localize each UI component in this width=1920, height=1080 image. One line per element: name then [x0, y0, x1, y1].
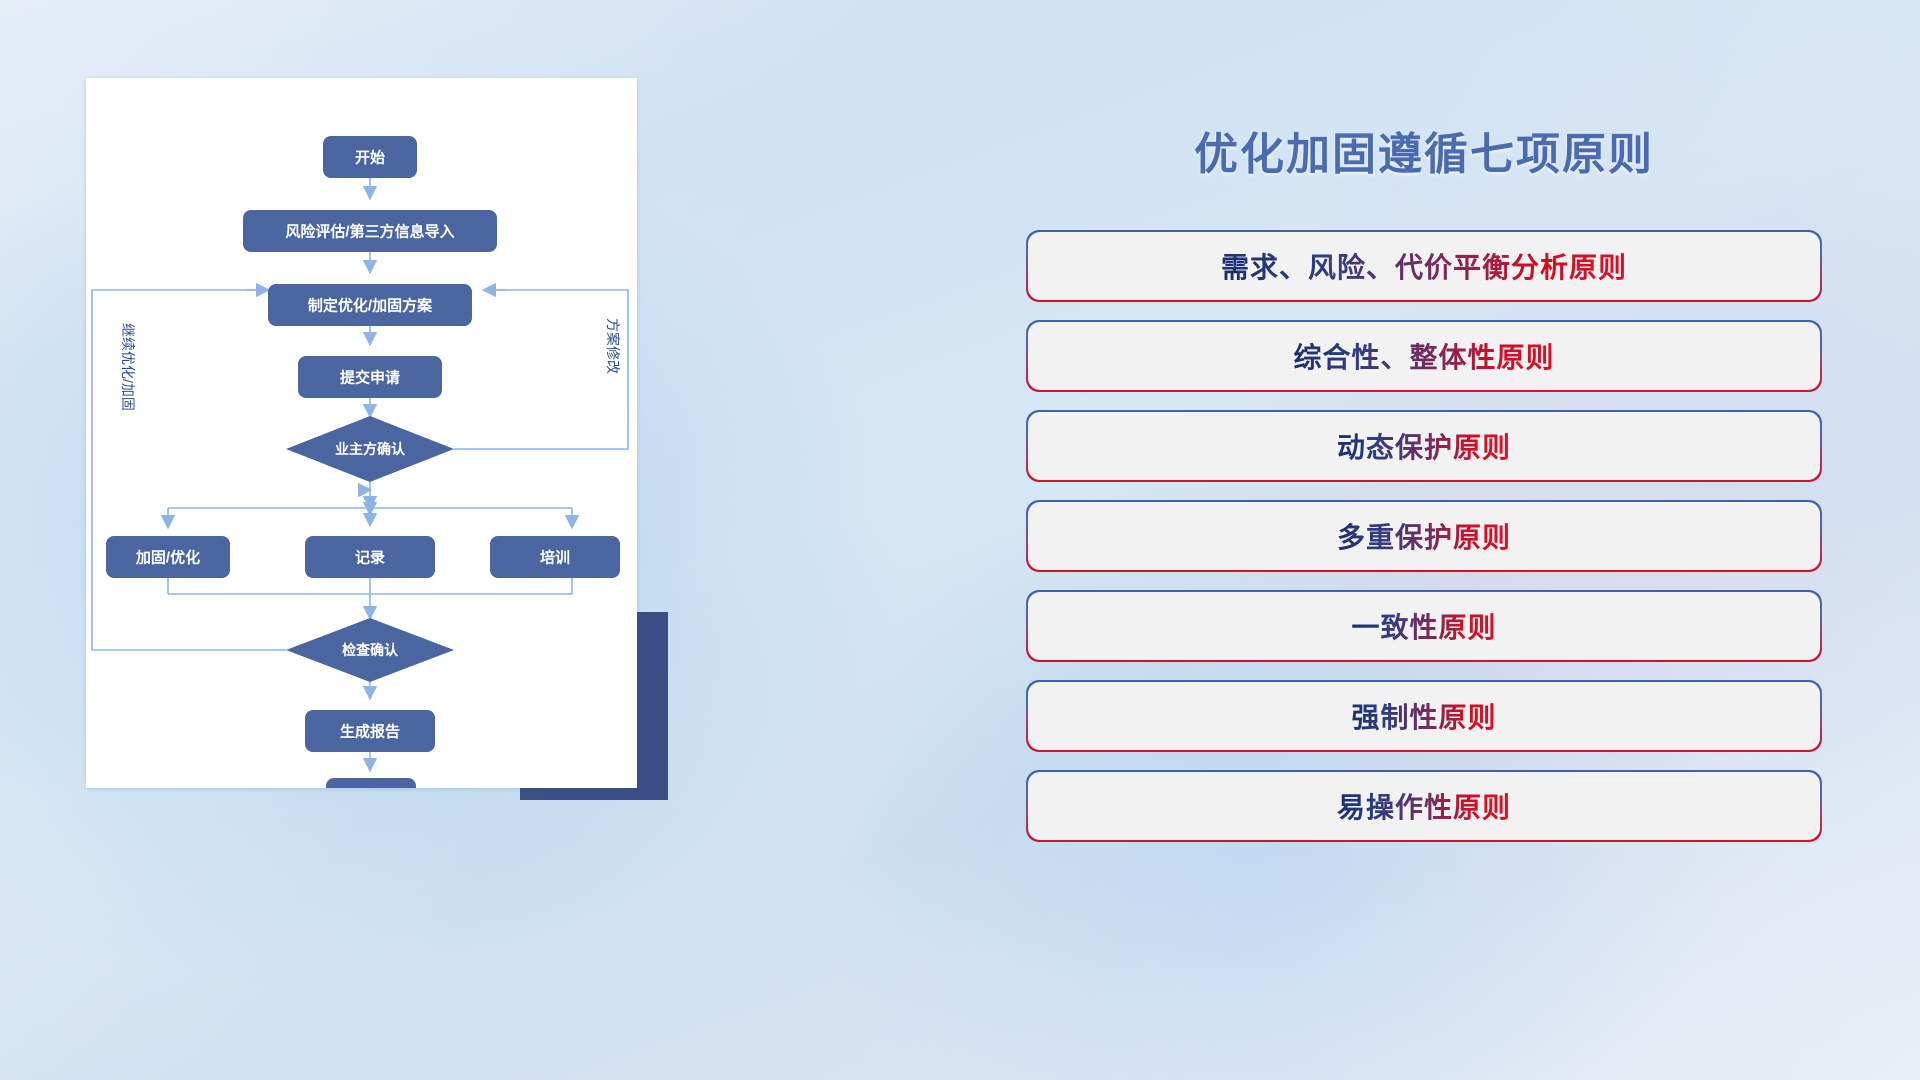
flow-node-plan[interactable]: 制定优化/加固方案 [268, 284, 472, 326]
principle-card-4[interactable]: 多重保护原则 [1028, 502, 1820, 570]
flow-node-end[interactable]: 结束 [326, 778, 416, 788]
slide-canvas: 开始 风险评估/第三方信息导入 制定优化/加固方案 提交申请 业主方确认 [0, 0, 1920, 1080]
flow-node-risk[interactable]: 风险评估/第三方信息导入 [243, 210, 497, 252]
flow-edge-label-revise: 方案修改 [605, 318, 621, 374]
flow-node-submit-label: 提交申请 [340, 369, 400, 387]
principle-card-2-label: 综合性、整体性原则 [1293, 336, 1554, 376]
flowchart-svg: 开始 风险评估/第三方信息导入 制定优化/加固方案 提交申请 业主方确认 [86, 78, 637, 788]
flow-node-training[interactable]: 培训 [490, 536, 620, 578]
flow-node-record[interactable]: 记录 [305, 536, 435, 578]
flow-node-inspect[interactable]: 检查确认 [286, 618, 454, 682]
flow-node-report[interactable]: 生成报告 [305, 710, 435, 752]
principle-card-4-label: 多重保护原则 [1337, 516, 1511, 556]
flow-node-owner-confirm-label: 业主方确认 [335, 441, 406, 457]
principles-list: 需求、风险、代价平衡分析原则 综合性、整体性原则 动态保护原则 多重保护原则 一… [1028, 232, 1820, 862]
principle-card-5[interactable]: 一致性原则 [1028, 592, 1820, 660]
flow-node-plan-label: 制定优化/加固方案 [308, 297, 433, 315]
flow-node-reinforce[interactable]: 加固/优化 [106, 536, 230, 578]
flow-node-submit[interactable]: 提交申请 [298, 356, 442, 398]
flow-node-training-label: 培训 [540, 549, 570, 567]
principle-card-6[interactable]: 强制性原则 [1028, 682, 1820, 750]
flow-edge-label-continue: 继续优化/加固 [120, 323, 136, 411]
principle-card-7[interactable]: 易操作性原则 [1028, 772, 1820, 840]
flow-node-reinforce-label: 加固/优化 [135, 549, 200, 567]
flow-node-start[interactable]: 开始 [323, 136, 417, 178]
principle-card-7-label: 易操作性原则 [1337, 786, 1511, 826]
principle-card-5-label: 一致性原则 [1351, 606, 1496, 646]
flow-node-record-label: 记录 [355, 550, 385, 567]
flow-node-inspect-label: 检查确认 [342, 642, 399, 658]
flow-node-start-label: 开始 [355, 149, 385, 167]
principle-card-3[interactable]: 动态保护原则 [1028, 412, 1820, 480]
principle-card-1[interactable]: 需求、风险、代价平衡分析原则 [1028, 232, 1820, 300]
flow-node-report-label: 生成报告 [340, 723, 400, 741]
flow-node-owner-confirm[interactable]: 业主方确认 [286, 416, 454, 482]
page-title: 优化加固遵循七项原则 [1024, 118, 1824, 182]
principle-card-1-label: 需求、风险、代价平衡分析原则 [1221, 246, 1627, 286]
flowchart-card: 开始 风险评估/第三方信息导入 制定优化/加固方案 提交申请 业主方确认 [86, 78, 637, 788]
flow-right-loop [454, 290, 628, 449]
principle-card-6-label: 强制性原则 [1351, 696, 1496, 736]
principle-card-2[interactable]: 综合性、整体性原则 [1028, 322, 1820, 390]
principle-card-3-label: 动态保护原则 [1337, 426, 1511, 466]
flow-node-risk-label: 风险评估/第三方信息导入 [285, 223, 454, 241]
